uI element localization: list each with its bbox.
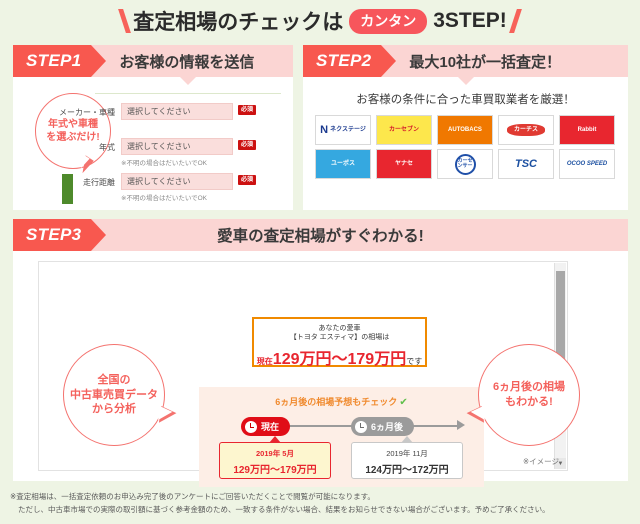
step1-body: 年式や車種 を選ぶだけ! メーカー・車種 選択してください 必須 年式 選択して… <box>13 77 293 210</box>
step1-divider <box>95 93 281 94</box>
forecast-title-row: 6ヵ月後の相場予想もチェック✔ <box>199 395 484 408</box>
estimate-suffix: です <box>406 357 422 366</box>
nextstage-mark-icon: N <box>320 124 328 136</box>
estimate-price-box: あなたの愛車 【トヨタ エスティマ】の相場は 現在129万円〜179万円です <box>252 317 427 367</box>
dealer-logo-yanase: ヤナセ <box>376 149 432 179</box>
label-mileage: 走行距離 <box>53 173 115 188</box>
dealer-logo-rabbit-label: Rabbit <box>578 127 597 134</box>
estimate-line2: 【トヨタ エスティマ】の相場は <box>254 333 425 342</box>
step3-callout-left-line2: 中古車売買データ <box>70 388 158 403</box>
bubble-tail-inner-icon <box>158 406 173 422</box>
note-year: ※不明の場合はだいたいでOK <box>121 157 207 167</box>
select-year[interactable]: 選択してください <box>121 138 233 155</box>
step1-card: STEP1 お客様の情報を送信 年式や車種 を選ぶだけ! メーカー・車種 選択し… <box>13 45 293 210</box>
dealer-logo-curtis: カーチス <box>498 115 554 145</box>
dealer-logo-autobacs-label: AUTOBACS <box>448 127 482 134</box>
estimate-amount: 129万円〜179万円 <box>273 351 406 368</box>
step2-header: STEP2 最大10社が一括査定！ <box>303 45 628 77</box>
timeline-pill-now: 現在 <box>241 417 290 436</box>
step1-tag: STEP1 <box>13 45 91 77</box>
form-row-mileage: 走行距離 選択してください 必須 <box>53 173 256 190</box>
page-title-suffix: 3STEP! <box>433 9 507 33</box>
step3-callout-left-line1: 全国の <box>98 373 131 388</box>
image-disclaimer: ※イメージ <box>523 456 559 467</box>
page-title-text: 査定相場のチェックは <box>133 6 343 36</box>
forecast-future-date: 2019年 11月 <box>352 448 462 459</box>
dealer-logo-rabbit: Rabbit <box>559 115 615 145</box>
estimate-prefix: 現在 <box>257 357 273 366</box>
footer-line-1: ※査定相場は、一括査定依頼のお申込み完了後のアンケートにご回答いただくことで閲覧… <box>10 491 630 504</box>
dealer-logo-nextstage: Nネクステージ <box>315 115 371 145</box>
step3-title: 愛車の査定相場がすぐわかる! <box>13 224 628 246</box>
step3-callout-left: 全国の 中古車売買データ から分析 <box>63 344 165 446</box>
forecast-box-now: 2019年 5月 129万円〜179万円 <box>219 442 331 479</box>
clock-icon-now <box>245 421 257 433</box>
timeline-pill-future: 6ヵ月後 <box>351 417 414 436</box>
dealer-logo-carsensor-label: カーセンサー <box>455 154 476 175</box>
step3-callout-right-line1: 6ヵ月後の相場 <box>493 380 565 395</box>
dealer-logo-upos-label: ユーポス <box>331 161 355 168</box>
dealer-logo-tsc-label: TSC <box>515 158 537 170</box>
step2-body: お客様の条件に合った車買取業者を厳選！ Nネクステージ カーセブン AUTOBA… <box>303 77 628 210</box>
timeline-pill-now-label: 現在 <box>261 420 279 433</box>
timeline-arrow-icon <box>457 420 465 430</box>
note-mileage: ※不明の場合はだいたいでOK <box>121 192 207 202</box>
slash-right-icon <box>509 9 522 33</box>
step2-title: 最大10社が一括査定！ <box>409 51 561 72</box>
timeline-pill-future-label: 6ヵ月後 <box>371 420 403 433</box>
step3-header: STEP3 愛車の査定相場がすぐわかる! <box>13 219 628 251</box>
step1-title: お客様の情報を送信 <box>119 51 254 72</box>
dealer-logo-carseven-label: カーセブン <box>389 127 419 134</box>
forecast-box-future-notch-icon <box>401 436 413 443</box>
easy-badge: カンタン <box>349 9 427 34</box>
step3-body: あなたの愛車 【トヨタ エスティマ】の相場は 現在129万円〜179万円です 6… <box>13 251 628 481</box>
page-title: 査定相場のチェックは カンタン 3STEP! <box>0 4 640 38</box>
estimate-line1: あなたの愛車 <box>254 324 425 333</box>
estimate-amount-row: 現在129万円〜179万円です <box>254 345 425 369</box>
label-year: 年式 <box>53 138 115 153</box>
step2-subtitle: お客様の条件に合った車買取業者を厳選！ <box>303 91 628 107</box>
dealer-logo-ocoospeed-label: OCOO SPEED <box>567 161 607 168</box>
badge-required-maker: 必須 <box>238 105 256 115</box>
check-icon: ✔ <box>399 397 407 408</box>
footer-line-2: ただし、中古車市場での実際の取引額に基づく参考金額のため、一致する条件がない場合… <box>10 504 630 517</box>
step2-tag: STEP2 <box>303 45 381 77</box>
form-row-maker: メーカー・車種 選択してください 必須 <box>53 103 256 120</box>
forecast-future-range: 124万円〜172万円 <box>352 461 462 476</box>
dealer-logo-autobacs: AUTOBACS <box>437 115 493 145</box>
form-row-year: 年式 選択してください 必須 <box>53 138 256 155</box>
page-root: 査定相場のチェックは カンタン 3STEP! STEP1 お客様の情報を送信 年… <box>0 0 640 524</box>
forecast-title: 6ヵ月後の相場予想もチェック <box>275 397 397 407</box>
forecast-box-now-notch-icon <box>269 436 281 443</box>
dealer-logo-tsc: TSC <box>498 149 554 179</box>
dealer-logo-ocoospeed: OCOO SPEED <box>559 149 615 179</box>
dealer-logo-nextstage-label: ネクステージ <box>330 127 366 134</box>
dealer-logo-grid: Nネクステージ カーセブン AUTOBACS カーチス Rabbit ユーポス <box>315 115 616 179</box>
select-maker[interactable]: 選択してください <box>121 103 233 120</box>
clock-icon-future <box>355 421 367 433</box>
footer-disclaimer: ※査定相場は、一括査定依頼のお申込み完了後のアンケートにご回答いただくことで閲覧… <box>0 487 640 517</box>
step3-callout-left-line3: から分析 <box>92 402 136 417</box>
select-mileage[interactable]: 選択してください <box>121 173 233 190</box>
dealer-logo-upos: ユーポス <box>315 149 371 179</box>
forecast-timeline-panel: 6ヵ月後の相場予想もチェック✔ 現在 6ヵ月後 2019年 5月 <box>199 387 484 487</box>
badge-required-mileage: 必須 <box>238 175 256 185</box>
forecast-box-future: 2019年 11月 124万円〜172万円 <box>351 442 463 479</box>
dealer-logo-curtis-label: カーチス <box>507 124 545 137</box>
bubble-tail-inner-icon <box>470 406 485 422</box>
dealer-logo-carsensor: カーセンサー <box>437 149 493 179</box>
step3-card: STEP3 愛車の査定相場がすぐわかる! あなたの愛車 【トヨタ エスティマ】の… <box>13 219 628 481</box>
badge-required-year: 必須 <box>238 140 256 150</box>
step3-callout-right: 6ヵ月後の相場 もわかる! <box>478 344 580 446</box>
step3-callout-right-line2: もわかる! <box>505 395 553 410</box>
dealer-logo-yanase-label: ヤナセ <box>395 161 413 168</box>
label-maker: メーカー・車種 <box>53 103 115 118</box>
slash-left-icon <box>118 9 131 33</box>
dealer-logo-carseven: カーセブン <box>376 115 432 145</box>
forecast-now-range: 129万円〜179万円 <box>220 461 330 476</box>
step2-card: STEP2 最大10社が一括査定！ お客様の条件に合った車買取業者を厳選！ Nネ… <box>303 45 628 210</box>
forecast-now-date: 2019年 5月 <box>220 448 330 459</box>
step1-header: STEP1 お客様の情報を送信 <box>13 45 293 77</box>
